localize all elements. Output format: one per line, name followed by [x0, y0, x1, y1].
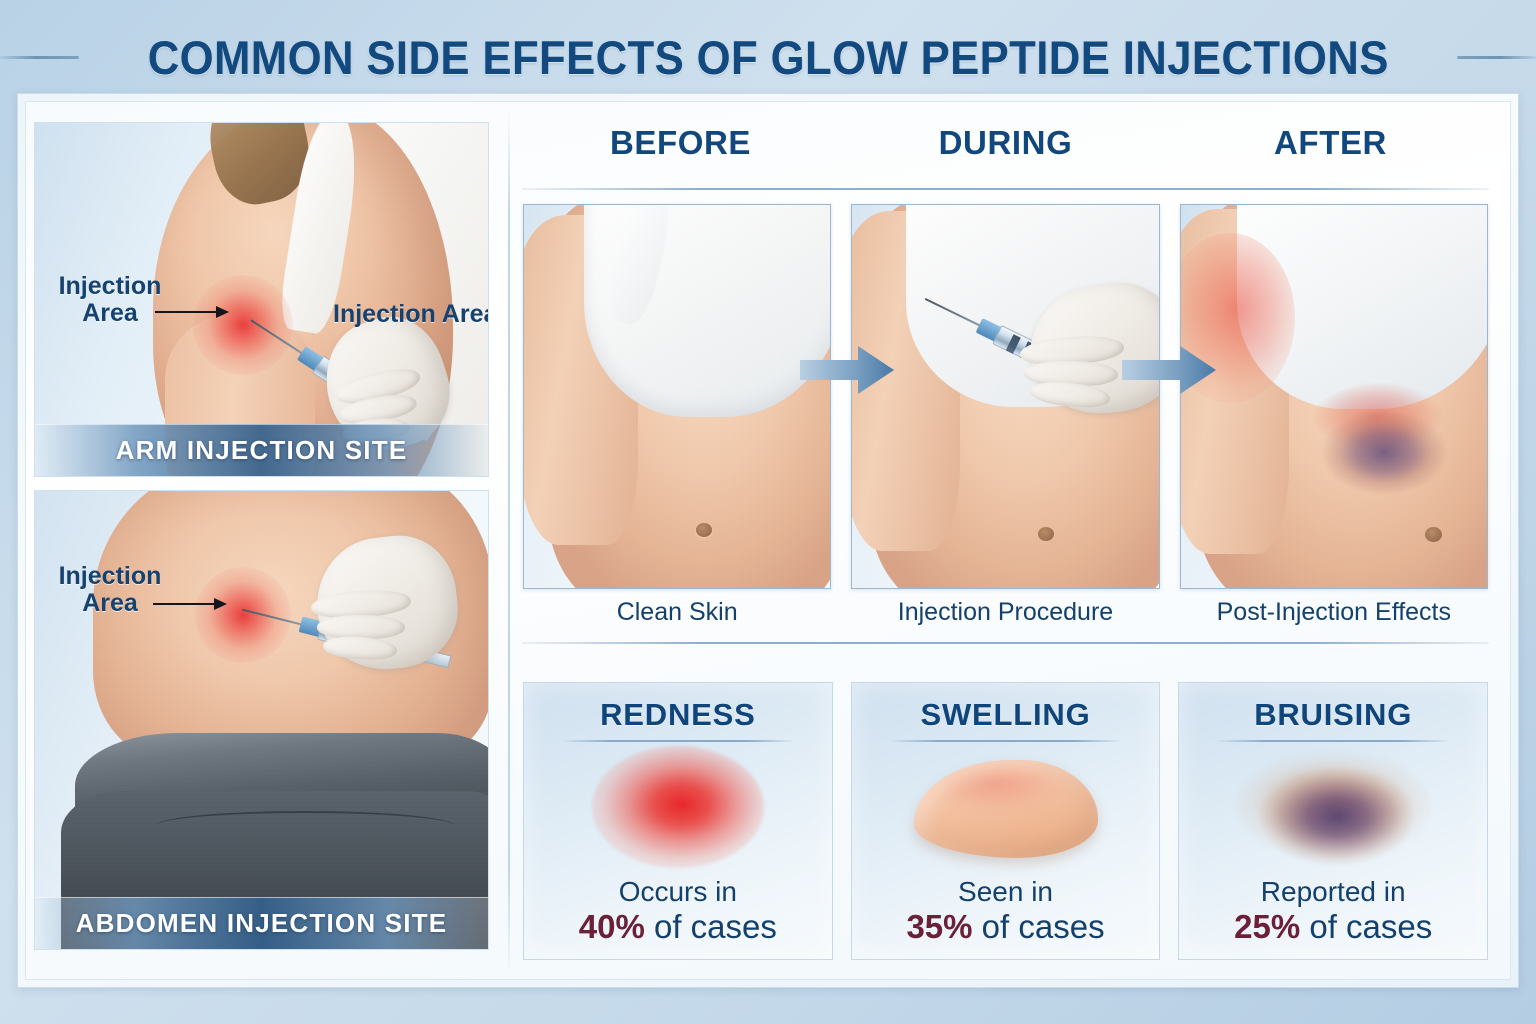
card-percent-bruising: 25%	[1234, 908, 1300, 945]
redness-blob-icon	[592, 746, 764, 868]
title-rule-left	[0, 56, 79, 59]
abdomen-callout-arrow	[153, 603, 225, 605]
abdomen-bruise-icon	[1301, 383, 1461, 495]
abdomen-callout-label: Injection Area	[45, 563, 175, 617]
card-title-redness: REDNESS	[600, 697, 755, 733]
column-divider	[508, 112, 510, 974]
card-lead-swelling: Seen in	[906, 876, 1104, 907]
card-title-rule	[564, 740, 792, 742]
card-value-line-redness: 40% of cases	[579, 909, 777, 946]
stage-photo-during	[851, 204, 1159, 589]
abdomen-injection-site-card: Injection Area ABDOMEN INJECTION SITE	[34, 490, 489, 950]
card-suffix-swelling: of cases	[973, 908, 1105, 945]
abdomen-injection-photo: Injection Area	[35, 491, 488, 949]
arm-injection-site-card: Injection Area Injection Area ARM INJECT…	[34, 122, 489, 477]
poster-frame: Injection Area Injection Area ARM INJECT…	[17, 93, 1519, 988]
card-lead-redness: Occurs in	[579, 876, 777, 907]
finger-shape	[317, 615, 405, 639]
navel-shape	[696, 523, 712, 537]
title-rule-right	[1457, 56, 1536, 59]
card-suffix-redness: of cases	[645, 908, 777, 945]
card-percent-swelling: 35%	[906, 908, 972, 945]
caption-post-injection-effects: Post-Injection Effects	[1180, 598, 1488, 638]
bruise-blob-icon	[1235, 748, 1431, 866]
card-title-rule	[1219, 740, 1447, 742]
redness-illustration	[524, 748, 832, 866]
card-title-rule	[892, 740, 1120, 742]
infographic-poster: COMMON SIDE EFFECTS OF GLOW PEPTIDE INJE…	[0, 0, 1536, 1024]
arm-site-band-label: ARM INJECTION SITE	[116, 435, 408, 466]
swelling-illustration	[852, 748, 1160, 866]
section-divider-rule	[522, 642, 1489, 644]
abdomen-site-band-label: ABDOMEN INJECTION SITE	[76, 908, 448, 939]
navel-shape	[1425, 527, 1442, 542]
side-effect-cards: REDNESS Occurs in 40% of cases	[523, 682, 1488, 960]
arm-site-band: ARM INJECTION SITE	[35, 424, 488, 476]
stage-header-during: DURING	[843, 124, 1168, 176]
side-effect-card-swelling: SWELLING Seen in 35% of cases	[851, 682, 1161, 960]
card-title-bruising: BRUISING	[1254, 697, 1412, 733]
card-stat-swelling: Seen in 35% of cases	[906, 876, 1104, 946]
card-value-line-bruising: 25% of cases	[1234, 909, 1432, 946]
arm-callout-right-label: Injection Area	[333, 301, 488, 328]
stage-photo-after	[1180, 204, 1488, 589]
card-title-swelling: SWELLING	[921, 697, 1091, 733]
caption-injection-procedure: Injection Procedure	[851, 598, 1159, 638]
page-title: COMMON SIDE EFFECTS OF GLOW PEPTIDE INJE…	[147, 30, 1388, 85]
card-stat-redness: Occurs in 40% of cases	[579, 876, 777, 946]
stage-header-rule	[522, 188, 1489, 190]
card-lead-bruising: Reported in	[1234, 876, 1432, 907]
card-stat-bruising: Reported in 25% of cases	[1234, 876, 1432, 946]
stage-captions: Clean Skin Injection Procedure Post-Inje…	[523, 598, 1488, 638]
stage-headers: BEFORE DURING AFTER	[518, 124, 1493, 176]
arm-callout-left-arrow	[155, 311, 227, 313]
stage-header-after: AFTER	[1168, 124, 1493, 176]
title-bar: COMMON SIDE EFFECTS OF GLOW PEPTIDE INJE…	[0, 22, 1536, 92]
card-value-line-swelling: 35% of cases	[906, 909, 1104, 946]
side-effect-card-bruising: BRUISING Reported in 25% of cases	[1178, 682, 1488, 960]
stage-header-before: BEFORE	[518, 124, 843, 176]
card-suffix-bruising: of cases	[1300, 908, 1432, 945]
bruising-illustration	[1179, 748, 1487, 866]
side-effect-card-redness: REDNESS Occurs in 40% of cases	[523, 682, 833, 960]
swelling-bump-icon	[914, 760, 1098, 858]
stage-photo-row	[523, 204, 1488, 589]
stages-and-effects-column: BEFORE DURING AFTER	[518, 112, 1493, 974]
card-percent-redness: 40%	[579, 908, 645, 945]
seam-line	[155, 811, 455, 841]
abdomen-site-band: ABDOMEN INJECTION SITE	[35, 897, 488, 949]
injection-sites-column: Injection Area Injection Area ARM INJECT…	[34, 112, 489, 992]
stage-photo-before	[523, 204, 831, 589]
caption-clean-skin: Clean Skin	[523, 598, 831, 638]
arm-callout-left-label: Injection Area	[45, 273, 175, 327]
poster-frame-inner: Injection Area Injection Area ARM INJECT…	[25, 101, 1511, 980]
